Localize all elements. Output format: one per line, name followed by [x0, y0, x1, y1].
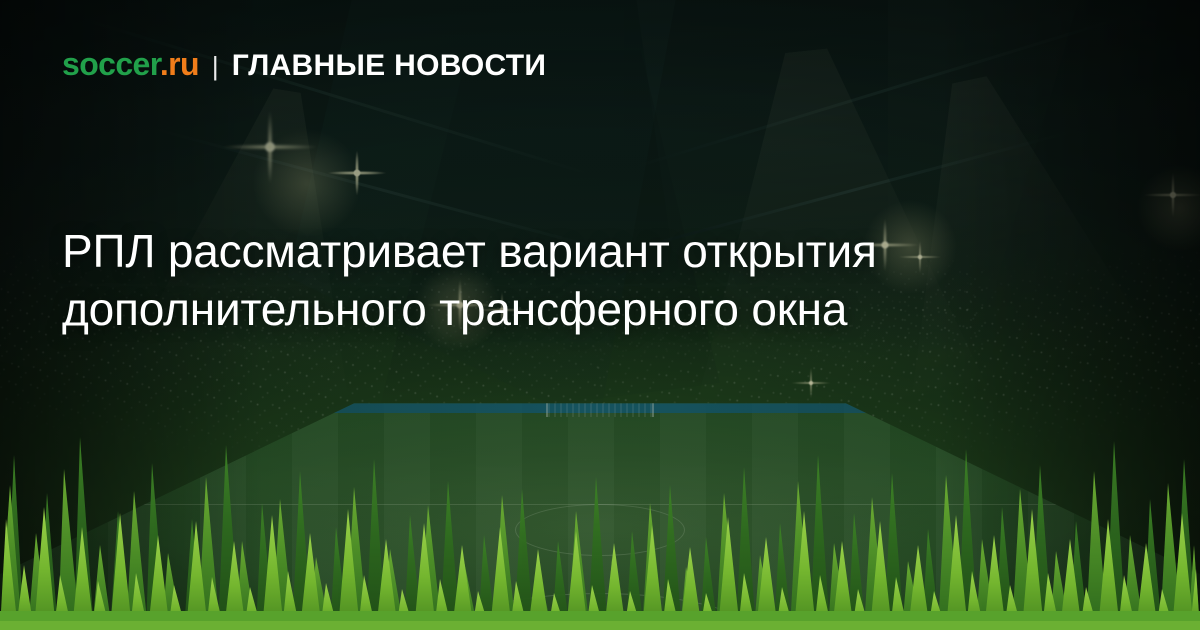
header-separator: | — [212, 53, 219, 79]
site-logo[interactable]: soccer.ru — [62, 48, 199, 80]
news-share-card: soccer.ru | ГЛАВНЫЕ НОВОСТИ РПЛ рассматр… — [0, 0, 1200, 630]
logo-text-suffix: .ru — [160, 46, 199, 82]
logo-text-primary: soccer — [62, 46, 160, 82]
site-header: soccer.ru | ГЛАВНЫЕ НОВОСТИ — [62, 48, 546, 81]
header-kicker: ГЛАВНЫЕ НОВОСТИ — [232, 51, 547, 81]
article-headline: РПЛ рассматривает вариант открытия допол… — [62, 222, 942, 338]
